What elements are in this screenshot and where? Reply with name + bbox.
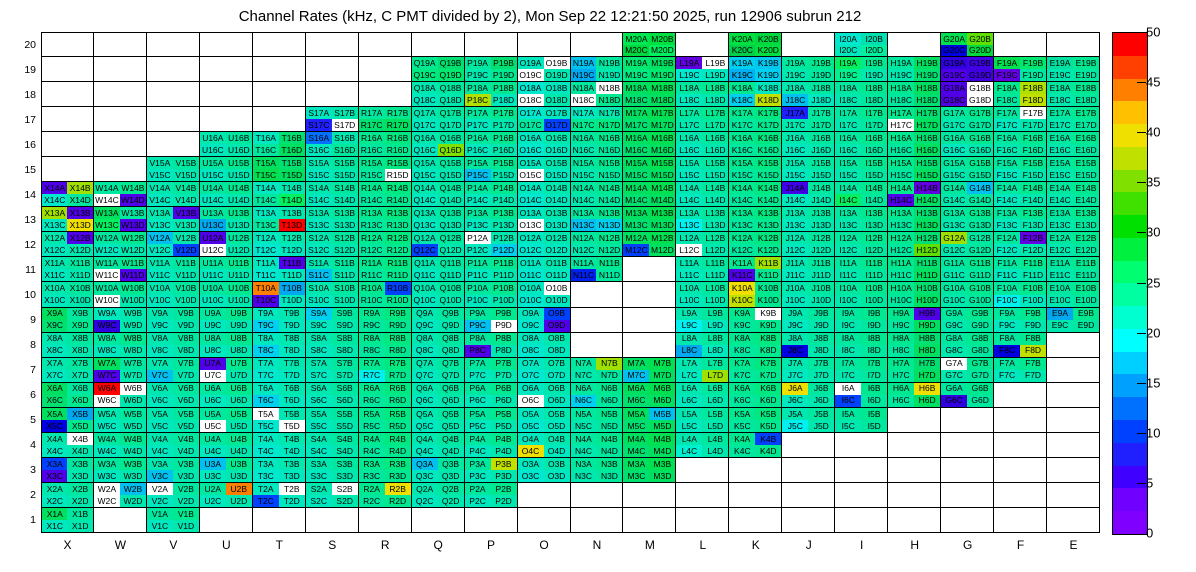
grid-cell-L12: L12AL12BL12CL12D xyxy=(676,232,729,257)
channel-H19B: H19B xyxy=(914,57,940,69)
channel-S15A: S15A xyxy=(306,157,332,169)
channel-F17A: F17A xyxy=(994,107,1020,119)
channel-O5A: O5A xyxy=(518,408,544,420)
channel-T12C: T12C xyxy=(253,244,279,256)
channel-P6B: P6B xyxy=(491,383,517,395)
channel-T5A: T5A xyxy=(253,408,279,420)
channel-M16D: M16D xyxy=(649,144,675,156)
channel-V4A: V4A xyxy=(147,433,173,445)
grid-cell-H6: H6AH6BH6CH6D xyxy=(888,383,941,408)
channel-L19C: L19C xyxy=(676,69,702,81)
channel-F15A: F15A xyxy=(994,157,1020,169)
channel-F12C: F12C xyxy=(994,244,1020,256)
grid-cell-F8: F8AF8BF8CF8D xyxy=(994,333,1047,358)
colorbar-tick-50: 50 xyxy=(1146,25,1160,40)
channel-L14A: L14A xyxy=(676,182,702,194)
channel-P16B: P16B xyxy=(491,132,517,144)
channel-I20A: I20A xyxy=(835,33,861,45)
channel-S4C: S4C xyxy=(306,445,332,457)
channel-J5A: J5A xyxy=(782,408,808,420)
grid-cell-P11: P11AP11BP11CP11D xyxy=(465,257,518,282)
channel-K4C: K4C xyxy=(729,445,755,457)
channel-L4C: L4C xyxy=(676,445,702,457)
channel-M18C: M18C xyxy=(623,94,649,106)
channel-G11A: G11A xyxy=(941,257,967,269)
channel-Q13C: Q13C xyxy=(412,219,438,231)
channel-L15B: L15B xyxy=(702,157,728,169)
channel-K12A: K12A xyxy=(729,232,755,244)
channel-R5B: R5B xyxy=(385,408,411,420)
channel-O7C: O7C xyxy=(518,370,544,382)
channel-V3C: V3C xyxy=(147,470,173,482)
channel-S4D: S4D xyxy=(332,445,358,457)
channel-T7A: T7A xyxy=(253,358,279,370)
grid-cell-N2 xyxy=(571,483,624,508)
channel-M17A: M17A xyxy=(623,107,649,119)
channel-G18B: G18B xyxy=(967,82,993,94)
channel-S10B: S10B xyxy=(332,282,358,294)
channel-R12A: R12A xyxy=(359,232,385,244)
channel-X10A: X10A xyxy=(42,282,67,294)
channel-W5B: W5B xyxy=(120,408,146,420)
channel-quad-group: J19AJ19BJ19CJ19D xyxy=(782,57,834,81)
channel-H9C: H9C xyxy=(888,320,914,332)
channel-quad-group: J16AJ16BJ16CJ16D xyxy=(782,132,834,156)
channel-S2A: S2A xyxy=(306,483,332,495)
channel-Q16B: Q16B xyxy=(438,132,464,144)
channel-quad-group: S3AS3BS3CS3D xyxy=(306,458,358,482)
grid-cell-W13: W13AW13BW13CW13D xyxy=(94,207,147,232)
channel-quad-group: L10AL10BL10CL10D xyxy=(676,282,728,306)
channel-V8A: V8A xyxy=(147,333,173,345)
channel-quad-group: M6AM6BM6CM6D xyxy=(623,383,675,407)
grid-cell-R16: R16AR16BR16CR16D xyxy=(359,132,412,157)
grid-cell-V12: V12AV12BV12CV12D xyxy=(147,232,200,257)
channel-M14C: M14C xyxy=(623,194,649,206)
grid-cell-J13: J13AJ13BJ13CJ13D xyxy=(782,207,835,232)
channel-U10D: U10D xyxy=(226,295,252,307)
channel-quad-group: J7AJ7BJ7CJ7D xyxy=(782,358,834,382)
channel-K5C: K5C xyxy=(729,420,755,432)
channel-M12D: M12D xyxy=(649,244,675,256)
grid-cell-H5 xyxy=(888,408,941,433)
y-axis-tick-8: 8 xyxy=(8,339,36,351)
colorbar-tick-15: 15 xyxy=(1146,375,1160,390)
channel-quad-group: W6AW6BW6CW6D xyxy=(94,383,146,407)
channel-X11B: X11B xyxy=(67,257,92,269)
channel-K11A: K11A xyxy=(729,257,755,269)
channel-N17B: N17B xyxy=(596,107,622,119)
channel-P17B: P17B xyxy=(491,107,517,119)
channel-E11D: E11D xyxy=(1073,269,1099,281)
channel-L4A: L4A xyxy=(676,433,702,445)
channel-quad-group: L15AL15BL15CL15D xyxy=(676,157,728,181)
channel-T4A: T4A xyxy=(253,433,279,445)
grid-cell-V18 xyxy=(147,82,200,107)
channel-V6C: V6C xyxy=(147,395,173,407)
channel-W3D: W3D xyxy=(120,470,146,482)
channel-M4D: M4D xyxy=(649,445,675,457)
channel-X1C: X1C xyxy=(42,520,67,532)
channel-K12B: K12B xyxy=(755,232,781,244)
channel-N19C: N19C xyxy=(571,69,597,81)
grid-cell-I2 xyxy=(835,483,888,508)
channel-quad-group: G19AG19BG19CG19D xyxy=(941,57,993,81)
channel-S9C: S9C xyxy=(306,320,332,332)
channel-G6D: G6D xyxy=(967,395,993,407)
channel-R10D: R10D xyxy=(385,295,411,307)
channel-L7B: L7B xyxy=(702,358,728,370)
grid-cell-X7: X7AX7BX7CX7D xyxy=(41,358,94,383)
channel-G8D: G8D xyxy=(967,345,993,357)
channel-J15C: J15C xyxy=(782,169,808,181)
channel-R5D: R5D xyxy=(385,420,411,432)
channel-L6C: L6C xyxy=(676,395,702,407)
grid-cell-R18 xyxy=(359,82,412,107)
channel-T10C: T10C xyxy=(253,295,279,307)
channel-F16C: F16C xyxy=(994,144,1020,156)
channel-V11A: V11A xyxy=(147,257,173,269)
channel-R11B: R11B xyxy=(385,257,411,269)
channel-P8D: P8D xyxy=(491,345,517,357)
channel-Q18A: Q18A xyxy=(412,82,438,94)
grid-cell-H11: H11AH11BH11CH11D xyxy=(888,257,941,282)
channel-E15D: E15D xyxy=(1073,169,1099,181)
channel-quad-group: R8AR8BR8CR8D xyxy=(359,333,411,357)
channel-S8D: S8D xyxy=(332,345,358,357)
grid-cell-J14: J14AJ14BJ14CJ14D xyxy=(782,182,835,207)
channel-E12A: E12A xyxy=(1047,232,1073,244)
channel-U2C: U2C xyxy=(200,495,226,507)
channel-H19C: H19C xyxy=(888,69,914,81)
channel-X8C: X8C xyxy=(42,345,67,357)
grid-cell-L7: L7AL7BL7CL7D xyxy=(676,358,729,383)
grid-cell-T13: T13AT13BT13CT13D xyxy=(253,207,306,232)
channel-F17B: F17B xyxy=(1020,107,1046,119)
channel-quad-group: Q14AQ14BQ14CQ14D xyxy=(412,182,464,206)
channel-K13C: K13C xyxy=(729,219,755,231)
grid-cell-U8: U8AU8BU8CU8D xyxy=(200,333,253,358)
grid-cell-T20 xyxy=(253,32,306,57)
channel-U2A: U2A xyxy=(200,483,226,495)
grid-cell-W11: W11AW11BW11CW11D xyxy=(94,257,147,282)
channel-W8D: W8D xyxy=(120,345,146,357)
channel-Q15D: Q15D xyxy=(438,169,464,181)
channel-H6A: H6A xyxy=(888,383,914,395)
grid-cell-L6: L6AL6BL6CL6D xyxy=(676,383,729,408)
channel-X5B: X5B xyxy=(67,408,92,420)
colorbar-tickmark-30 xyxy=(1137,232,1146,233)
channel-F12D: F12D xyxy=(1020,244,1046,256)
grid-cell-I13: I13AI13BI13CI13D xyxy=(835,207,888,232)
grid-cell-K19: K19AK19BK19CK19D xyxy=(729,57,782,82)
channel-F14B: F14B xyxy=(1020,182,1046,194)
channel-quad-group: P17AP17BP17CP17D xyxy=(465,107,517,131)
channel-N19A: N19A xyxy=(571,57,597,69)
channel-W9C: W9C xyxy=(94,320,120,332)
channel-F9B: F9B xyxy=(1020,308,1046,320)
channel-R9C: R9C xyxy=(359,320,385,332)
channel-quad-group: R17AR17BR17CR17D xyxy=(359,107,411,131)
grid-cell-J15: J15AJ15BJ15CJ15D xyxy=(782,157,835,182)
grid-cell-W7: W7AW7BW7CW7D xyxy=(94,358,147,383)
channel-quad-group: G10AG10BG10CG10D xyxy=(941,282,993,306)
channel-K8A: K8A xyxy=(729,333,755,345)
channel-K18B: K18B xyxy=(755,82,781,94)
channel-T16A: T16A xyxy=(253,132,279,144)
grid-cell-G13: G13AG13BG13CG13D xyxy=(941,207,994,232)
channel-quad-group: G12AG12BG12CG12D xyxy=(941,232,993,256)
grid-cell-S7: S7AS7BS7CS7D xyxy=(306,358,359,383)
grid-cell-J4 xyxy=(782,433,835,458)
grid-cell-N5: N5AN5BN5CN5D xyxy=(571,408,624,433)
grid-cell-W17 xyxy=(94,107,147,132)
channel-J9D: J9D xyxy=(808,320,834,332)
grid-cell-N18: N18AN18BN18CN18D xyxy=(571,82,624,107)
channel-T12A: T12A xyxy=(253,232,279,244)
channel-quad-group: W10AW10BW10CW10D xyxy=(94,282,146,306)
channel-L15C: L15C xyxy=(676,169,702,181)
channel-W8A: W8A xyxy=(94,333,120,345)
channel-O7B: O7B xyxy=(544,358,570,370)
channel-V12C: V12C xyxy=(147,244,173,256)
channel-U15D: U15D xyxy=(226,169,252,181)
channel-M15B: M15B xyxy=(649,157,675,169)
channel-N14A: N14A xyxy=(571,182,597,194)
channel-S3D: S3D xyxy=(332,470,358,482)
channel-N18B: N18B xyxy=(596,82,622,94)
channel-M20D: M20D xyxy=(649,45,675,57)
channel-S9D: S9D xyxy=(332,320,358,332)
channel-S10D: S10D xyxy=(332,295,358,307)
channel-L8B: L8B xyxy=(702,333,728,345)
channel-O9A: O9A xyxy=(518,308,544,320)
channel-N17D: N17D xyxy=(596,119,622,131)
channel-N6A: N6A xyxy=(571,383,597,395)
x-axis-tick-P: P xyxy=(461,538,521,552)
y-axis-tick-10: 10 xyxy=(8,289,36,301)
channel-I13D: I13D xyxy=(861,219,887,231)
channel-O18A: O18A xyxy=(518,82,544,94)
y-axis-tick-20: 20 xyxy=(8,39,36,51)
grid-cell-R1 xyxy=(359,508,412,533)
channel-H7A: H7A xyxy=(888,358,914,370)
grid-cell-X3: X3AX3BX3CX3D xyxy=(41,458,94,483)
channel-quad-group: O15AO15BO15CO15D xyxy=(518,157,570,181)
channel-T10B: T10B xyxy=(279,282,305,294)
channel-quad-group: F19AF19BF19CF19D xyxy=(994,57,1046,81)
channel-I19B: I19B xyxy=(861,57,887,69)
channel-R9A: R9A xyxy=(359,308,385,320)
channel-quad-group: R3AR3BR3CR3D xyxy=(359,458,411,482)
channel-quad-group: S6AS6BS6CS6D xyxy=(306,383,358,407)
channel-X2B: X2B xyxy=(67,483,92,495)
channel-P3B: P3B xyxy=(491,458,517,470)
channel-quad-group: H14AH14BH14CH14D xyxy=(888,182,940,206)
channel-E13D: E13D xyxy=(1073,219,1099,231)
channel-O14C: O14C xyxy=(518,194,544,206)
colorbar-band-12 xyxy=(1113,306,1147,329)
channel-N3A: N3A xyxy=(571,458,597,470)
channel-quad-group: O10AO10BO10CO10D xyxy=(518,282,570,306)
colorbar-band-19 xyxy=(1113,466,1147,489)
grid-cell-R3: R3AR3BR3CR3D xyxy=(359,458,412,483)
channel-G14A: G14A xyxy=(941,182,967,194)
channel-N17A: N17A xyxy=(571,107,597,119)
grid-cell-L19: L19AL19BL19CL19D xyxy=(676,57,729,82)
grid-cell-S18 xyxy=(306,82,359,107)
channel-O9B: O9B xyxy=(544,308,570,320)
channel-S17B: S17B xyxy=(332,107,358,119)
channel-J10A: J10A xyxy=(782,282,808,294)
grid-cell-U2: U2AU2BU2CU2D xyxy=(200,483,253,508)
channel-R12D: R12D xyxy=(385,244,411,256)
channel-J7B: J7B xyxy=(808,358,834,370)
grid-cell-H16: H16AH16BH16CH16D xyxy=(888,132,941,157)
channel-O15D: O15D xyxy=(544,169,570,181)
page-title: Channel Rates (kHz, C PMT divided by 2),… xyxy=(0,8,1100,25)
channel-quad-group: G20AG20BG20CG20D xyxy=(941,33,993,56)
grid-cell-E14: E14AE14BE14CE14D xyxy=(1047,182,1100,207)
channel-H15C: H15C xyxy=(888,169,914,181)
channel-R6D: R6D xyxy=(385,395,411,407)
channel-P4B: P4B xyxy=(491,433,517,445)
channel-V14B: V14B xyxy=(173,182,199,194)
channel-L12A: L12A xyxy=(676,232,702,244)
grid-cell-H7: H7AH7BH7CH7D xyxy=(888,358,941,383)
grid-cell-N7: N7AN7BN7CN7D xyxy=(571,358,624,383)
channel-E17D: E17D xyxy=(1073,119,1099,131)
channel-G15D: G15D xyxy=(967,169,993,181)
grid-cell-U16: U16AU16BU16CU16D xyxy=(200,132,253,157)
grid-cell-T14: T14AT14BT14CT14D xyxy=(253,182,306,207)
channel-L5B: L5B xyxy=(702,408,728,420)
channel-O12C: O12C xyxy=(518,244,544,256)
channel-W9A: W9A xyxy=(94,308,120,320)
channel-U15A: U15A xyxy=(200,157,226,169)
channel-quad-group: M5AM5BM5CM5D xyxy=(623,408,675,432)
channel-quad-group: N19AN19BN19CN19D xyxy=(571,57,623,81)
grid-cell-T4: T4AT4BT4CT4D xyxy=(253,433,306,458)
channel-W13D: W13D xyxy=(120,219,146,231)
channel-quad-group: Q5AQ5BQ5CQ5D xyxy=(412,408,464,432)
channel-I6A: I6A xyxy=(835,383,861,395)
grid-cell-F15: F15AF15BF15CF15D xyxy=(994,157,1047,182)
channel-T16B: T16B xyxy=(279,132,305,144)
channel-U11D: U11D xyxy=(226,269,252,281)
channel-quad-group: O5AO5BO5CO5D xyxy=(518,408,570,432)
channel-U13B: U13B xyxy=(226,207,252,219)
channel-H7B: H7B xyxy=(914,358,940,370)
channel-E14A: E14A xyxy=(1047,182,1073,194)
channel-S9B: S9B xyxy=(332,308,358,320)
channel-quad-group: N6AN6BN6CN6D xyxy=(571,383,623,407)
channel-quad-group: N16AN16BN16CN16D xyxy=(571,132,623,156)
channel-quad-group: R14AR14BR14CR14D xyxy=(359,182,411,206)
channel-L11B: L11B xyxy=(702,257,728,269)
channel-quad-group: J11AJ11BJ11CJ11D xyxy=(782,257,834,281)
grid-cell-H2 xyxy=(888,483,941,508)
channel-M19A: M19A xyxy=(623,57,649,69)
channel-L6B: L6B xyxy=(702,383,728,395)
channel-E9C: E9C xyxy=(1047,320,1073,332)
channel-R4B: R4B xyxy=(385,433,411,445)
channel-R13B: R13B xyxy=(385,207,411,219)
channel-Q15A: Q15A xyxy=(412,157,438,169)
grid-cell-G6: G6AG6BG6CG6D xyxy=(941,383,994,408)
grid-cell-F5 xyxy=(994,408,1047,433)
channel-P4D: P4D xyxy=(491,445,517,457)
grid-cell-J10: J10AJ10BJ10CJ10D xyxy=(782,282,835,307)
channel-quad-group: P3AP3BP3CP3D xyxy=(465,458,517,482)
channel-E11A: E11A xyxy=(1047,257,1073,269)
channel-T9A: T9A xyxy=(253,308,279,320)
channel-I9D: I9D xyxy=(861,320,887,332)
channel-X2C: X2C xyxy=(42,495,67,507)
channel-I14C: I14C xyxy=(835,194,861,206)
channel-K10B: K10B xyxy=(755,282,781,294)
grid-cell-F7: F7AF7BF7CF7D xyxy=(994,358,1047,383)
channel-X3B: X3B xyxy=(67,458,92,470)
channel-X14A: X14A xyxy=(42,182,67,194)
channel-quad-group: U14AU14BU14CU14D xyxy=(200,182,252,206)
channel-S13D: S13D xyxy=(332,219,358,231)
grid-cell-E15: E15AE15BE15CE15D xyxy=(1047,157,1100,182)
grid-cell-H9: H9AH9BH9CH9D xyxy=(888,308,941,333)
grid-cell-J9: J9AJ9BJ9CJ9D xyxy=(782,308,835,333)
channel-I5D: I5D xyxy=(861,420,887,432)
grid-cell-I6: I6AI6BI6CI6D xyxy=(835,383,888,408)
grid-cell-M3: M3AM3BM3CM3D xyxy=(623,458,676,483)
channel-X7B: X7B xyxy=(67,358,92,370)
channel-quad-group: N17AN17BN17CN17D xyxy=(571,107,623,131)
channel-M7A: M7A xyxy=(623,358,649,370)
channel-quad-group: Q16AQ16BQ16CQ16D xyxy=(412,132,464,156)
channel-T11D: T11D xyxy=(279,269,305,281)
grid-cell-V11: V11AV11BV11CV11D xyxy=(147,257,200,282)
grid-cell-F2 xyxy=(994,483,1047,508)
channel-T13D: T13D xyxy=(279,219,305,231)
grid-cell-W8: W8AW8BW8CW8D xyxy=(94,333,147,358)
channel-O5B: O5B xyxy=(544,408,570,420)
channel-X14B: X14B xyxy=(67,182,92,194)
grid-cell-J3 xyxy=(782,458,835,483)
channel-T9D: T9D xyxy=(279,320,305,332)
channel-V10A: V10A xyxy=(147,282,173,294)
grid-cell-I18: I18AI18BI18CI18D xyxy=(835,82,888,107)
channel-K9C: K9C xyxy=(729,320,755,332)
channel-T6C: T6C xyxy=(253,395,279,407)
channel-P3C: P3C xyxy=(465,470,491,482)
channel-Q5D: Q5D xyxy=(438,420,464,432)
y-axis-tick-4: 4 xyxy=(8,439,36,451)
channel-W14B: W14B xyxy=(120,182,146,194)
grid-cell-H8: H8AH8BH8CH8D xyxy=(888,333,941,358)
y-axis-tick-14: 14 xyxy=(8,189,36,201)
channel-W7D: W7D xyxy=(120,370,146,382)
channel-S6B: S6B xyxy=(332,383,358,395)
channel-quad-group: K11AK11BK11CK11D xyxy=(729,257,781,281)
channel-P2C: P2C xyxy=(465,495,491,507)
channel-W9B: W9B xyxy=(120,308,146,320)
channel-quad-group: P7AP7BP7CP7D xyxy=(465,358,517,382)
channel-P18C: P18C xyxy=(465,94,491,106)
channel-R11C: R11C xyxy=(359,269,385,281)
channel-quad-group: R11AR11BR11CR11D xyxy=(359,257,411,281)
channel-I15C: I15C xyxy=(835,169,861,181)
grid-cell-S5: S5AS5BS5CS5D xyxy=(306,408,359,433)
channel-quad-group: N3AN3BN3CN3D xyxy=(571,458,623,482)
